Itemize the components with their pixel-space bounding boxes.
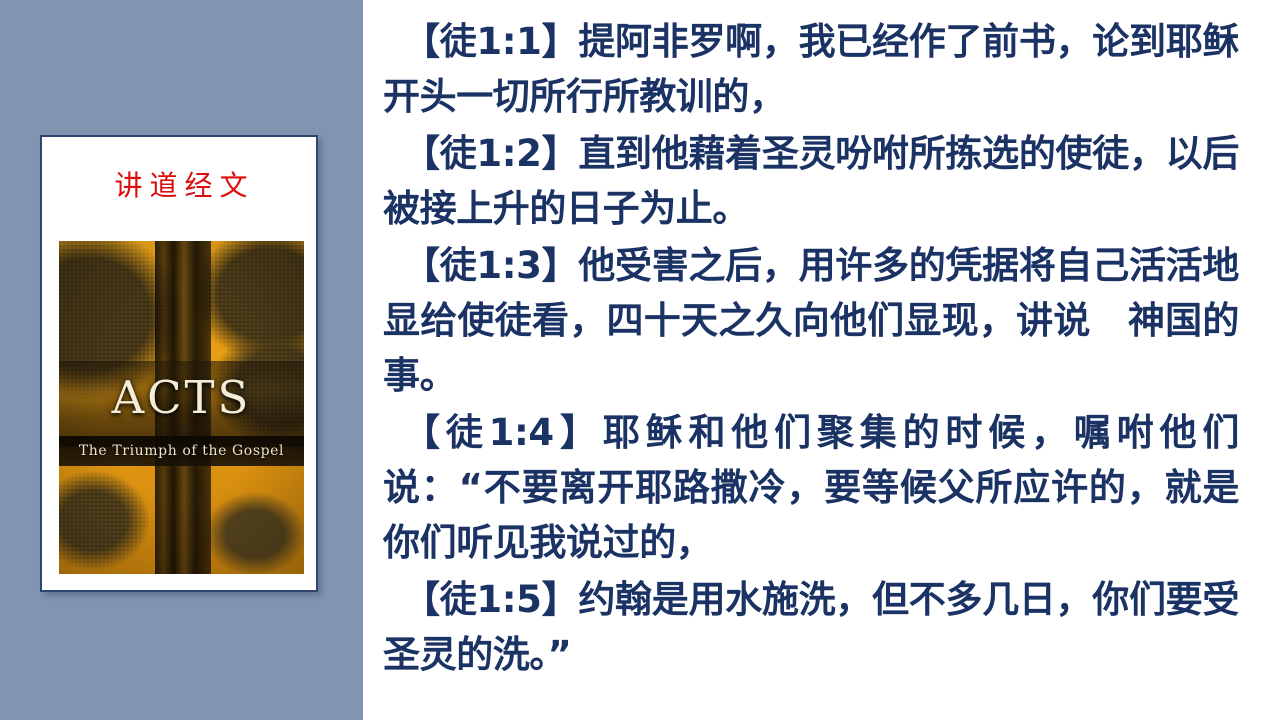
verse-paragraph: 【徒1:2】直到他藉着圣灵吩咐所拣选的使徒，以后被接上升的日子为止。 (383, 126, 1239, 236)
verse-paragraph: 【徒1:1】提阿非罗啊，我已经作了前书，论到耶稣开头一切所行所教训的， (383, 14, 1239, 124)
book-cover-subtitle: The Triumph of the Gospel (79, 443, 284, 459)
book-cover-image: ACTS The Triumph of the Gospel (59, 241, 304, 574)
presentation-slide: 讲道经文 ACTS The Triumph of the Gospel 【徒1:… (0, 0, 1280, 720)
left-sidebar-panel: 讲道经文 ACTS The Triumph of the Gospel (0, 0, 363, 720)
scripture-reference-card: 讲道经文 ACTS The Triumph of the Gospel (40, 135, 318, 592)
book-cover-title: ACTS (59, 371, 304, 424)
book-cover-subtitle-band: The Triumph of the Gospel (59, 436, 304, 466)
verse-paragraph: 【徒1:5】约翰是用水施洗，但不多几日，你们要受圣灵的洗。” (383, 572, 1239, 682)
verse-paragraph: 【徒1:4】耶稣和他们聚集的时候，嘱咐他们说：“不要离开耶路撒冷，要等候父所应许… (383, 405, 1239, 570)
verse-paragraph: 【徒1:3】他受害之后，用许多的凭据将自己活活地显给使徒看，四十天之久向他们显现… (383, 238, 1239, 403)
card-title: 讲道经文 (42, 164, 320, 204)
scripture-text-block: 【徒1:1】提阿非罗啊，我已经作了前书，论到耶稣开头一切所行所教训的， 【徒1:… (383, 14, 1239, 682)
